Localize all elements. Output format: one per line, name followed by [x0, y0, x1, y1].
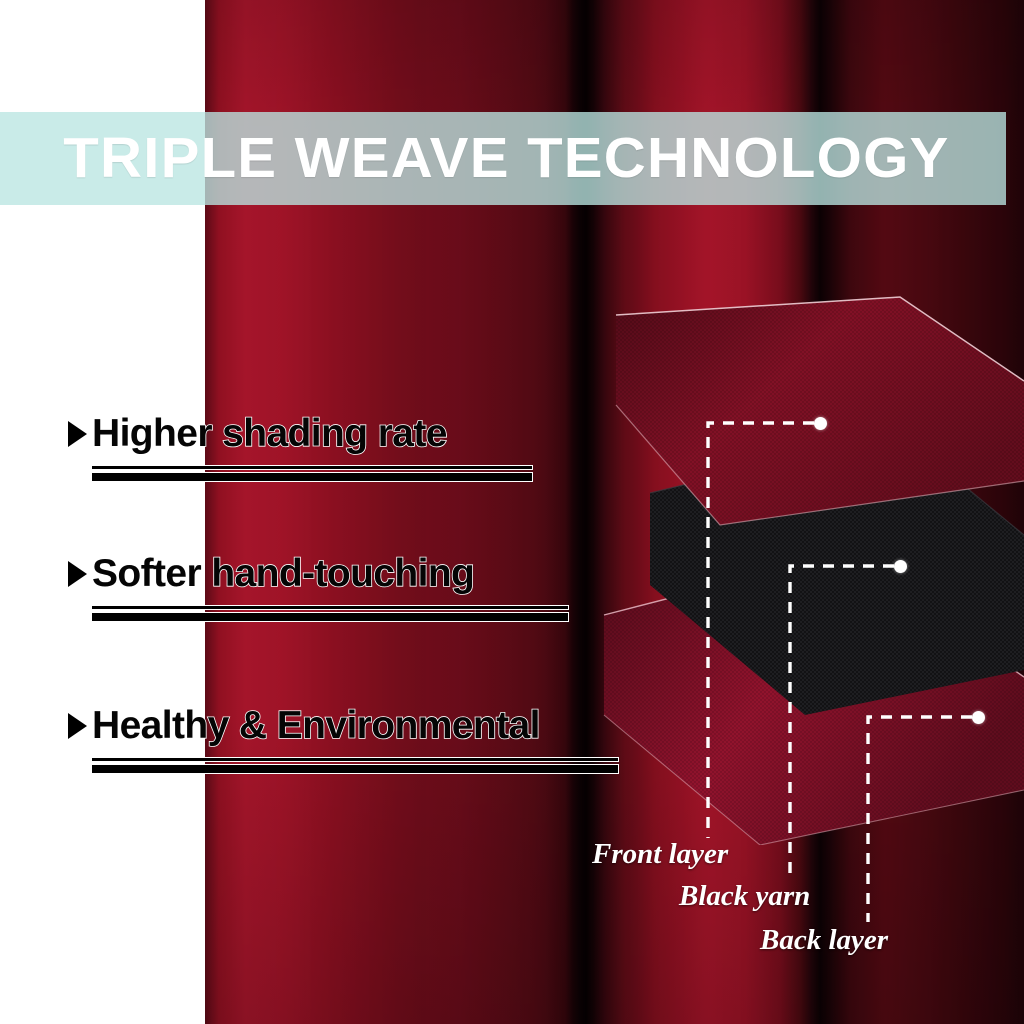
underline-thin	[91, 465, 533, 470]
feature-label: Higher shading rate	[92, 414, 447, 455]
feature-row: Healthy & Environmental	[68, 706, 619, 747]
triangle-right-icon	[68, 713, 87, 739]
feature-label: Healthy & Environmental	[92, 706, 540, 747]
triangle-right-icon	[68, 561, 87, 587]
feature-row: Higher shading rate	[68, 414, 533, 455]
feature-item-hand-touching: Softer hand-touching	[68, 554, 569, 622]
underline-thin	[91, 757, 619, 762]
feature-label: Softer hand-touching	[92, 554, 474, 595]
triangle-right-icon	[68, 421, 87, 447]
underline-thin	[91, 605, 569, 610]
underline-thick	[91, 612, 569, 622]
headline-banner: TRIPLE WEAVE TECHNOLOGY	[0, 112, 1006, 205]
product-feature-graphic: TRIPLE WEAVE TECHNOLOGY Higher shading r…	[0, 0, 1024, 1024]
feature-item-healthy-environmental: Healthy & Environmental	[68, 706, 619, 774]
feature-item-shading-rate: Higher shading rate	[68, 414, 533, 482]
underline-thick	[91, 472, 533, 482]
underline-thick	[91, 764, 619, 774]
feature-underline	[91, 757, 619, 774]
feature-row: Softer hand-touching	[68, 554, 569, 595]
page-title: TRIPLE WEAVE TECHNOLOGY	[0, 130, 950, 187]
feature-underline	[91, 465, 533, 482]
feature-underline	[91, 605, 569, 622]
triple-weave-layer-diagram	[600, 285, 1024, 845]
